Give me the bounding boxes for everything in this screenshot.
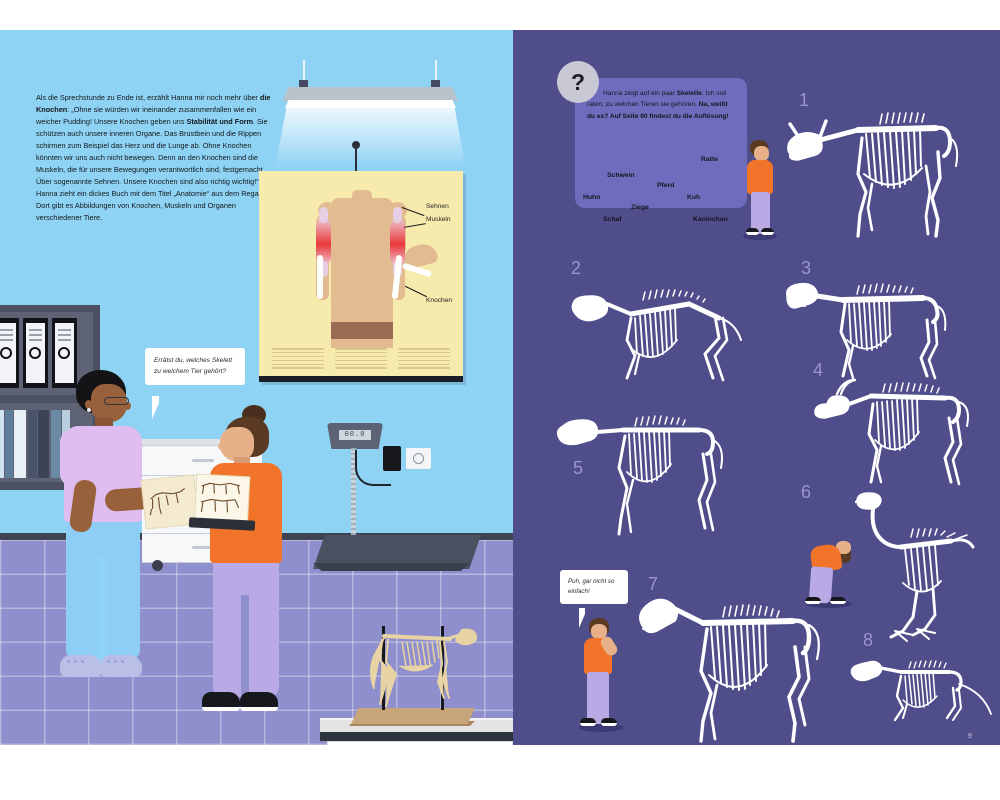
skeleton-number-6: 6: [801, 482, 811, 503]
shoe: [60, 655, 102, 677]
left-page: Als die Sprechstunde zu Ende ist, erzähl…: [0, 30, 513, 745]
skeleton-2-rabbit: [569, 278, 769, 393]
earring: [87, 408, 91, 412]
scale-display: 00.0: [339, 430, 371, 440]
animal-option-schaf: Schaf: [603, 216, 622, 223]
animal-option-ratte: Ratte: [701, 156, 718, 163]
skeleton-number-2: 2: [571, 258, 581, 279]
book: [14, 410, 26, 478]
animal-options: SchweinRattePferdHuhnKuhZiegeSchafKaninc…: [583, 156, 743, 206]
speech-bubble-child: Puh, gar nicht so einfach!: [560, 570, 628, 604]
poster-label-muskeln: Muskeln: [426, 216, 451, 223]
skeleton-6-chicken: [855, 485, 985, 650]
animal-option-kuh: Kuh: [687, 194, 700, 201]
dog-skeleton-model: [344, 616, 480, 714]
ceiling-lamp: [283, 60, 458, 160]
leg-gap: [241, 595, 249, 699]
power-adapter: [383, 446, 401, 471]
wall-socket: [406, 448, 431, 469]
counter-body: [327, 741, 513, 745]
poster-footer-lines: [272, 348, 450, 374]
poster-label-knochen: Knochen: [426, 297, 452, 304]
poster-cord: [355, 145, 357, 173]
skeleton-number-8: 8: [863, 630, 873, 651]
question-text: Hanna zeigt auf ein paar Skelette. Ich s…: [587, 88, 737, 122]
shoe: [202, 692, 240, 711]
page-number-right: 9: [968, 733, 972, 740]
skeleton-5-sheep: [553, 408, 753, 543]
animal-option-pferd: Pferd: [657, 182, 674, 189]
body-text: Als die Sprechstunde zu Ende ist, erzähl…: [36, 92, 276, 225]
animal-option-huhn: Huhn: [583, 194, 600, 201]
speech-bubble-tail: [579, 608, 585, 628]
glasses: [104, 397, 129, 405]
poster-bottom-bar: [259, 376, 463, 382]
book: [38, 410, 49, 478]
skeleton-7-horse: [633, 585, 848, 745]
book: [5, 410, 13, 478]
animal-option-kaninchen: Kaninchen: [693, 216, 728, 223]
animal-option-ziege: Ziege: [631, 204, 649, 211]
face: [220, 427, 254, 461]
right-page: ? Hanna zeigt auf ein paar Skelette. Ich…: [513, 30, 1000, 745]
counter-edge: [320, 732, 513, 741]
book-cover: [189, 517, 255, 530]
speech-bubble-adult: Errätst du, welches Skelett zu welchem T…: [145, 348, 245, 385]
animal-option-schwein: Schwein: [607, 172, 635, 179]
shoe: [100, 655, 142, 677]
book: [28, 410, 37, 478]
leg-gap: [98, 556, 107, 664]
nose: [218, 443, 225, 450]
speech-bubble-tail: [152, 396, 159, 419]
book-spread: Als die Sprechstunde zu Ende ist, erzähl…: [0, 0, 1000, 800]
sleeve: [254, 469, 282, 531]
skeleton-4-goat: [813, 370, 1000, 495]
skeleton-8-rat: [849, 650, 999, 735]
skeleton-1-cow: [786, 108, 986, 248]
anatomy-book[interactable]: [143, 475, 249, 529]
book: [0, 410, 4, 478]
shoe: [240, 692, 278, 711]
scale-platform-base: [313, 563, 481, 571]
sleeve: [60, 430, 88, 486]
poster-label-sehnen: Sehnen: [426, 203, 449, 210]
child-character: [196, 405, 292, 745]
binder: [23, 318, 48, 388]
adult-character: [58, 370, 168, 745]
binder: [0, 318, 19, 388]
